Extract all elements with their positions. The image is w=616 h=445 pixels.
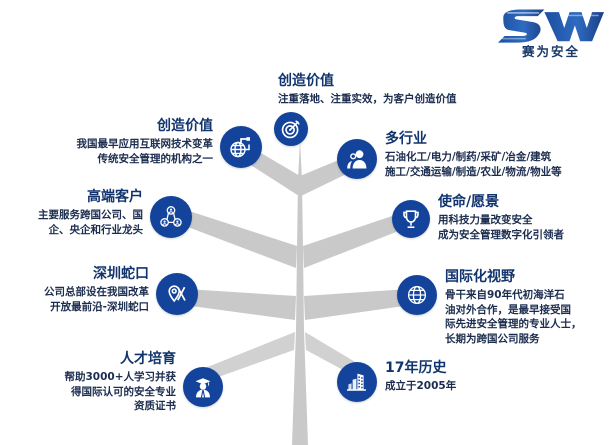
sw-logo-mark	[498, 8, 604, 44]
node-text-block: 深圳蛇口 公司总部设在我国改革 开放最前沿-深圳蛇口	[18, 266, 149, 314]
node-description: 主要服务跨国公司、国 企、央企和行业龙头	[23, 208, 143, 237]
node-description: 骨干来自90年代初海洋石 油对外合作，是最早接受国 际先进安全管理的专业人士， …	[445, 288, 582, 346]
org-chart-icon[interactable]	[150, 196, 192, 238]
node-text-block: 创造价值 注重落地、注重实效，为客户创造价值	[278, 73, 457, 107]
node-description: 注重落地、注重实效，为客户创造价值	[278, 92, 457, 107]
node-description: 用科技力量改变安全 成为安全管理数字化引领者	[438, 213, 564, 242]
node-title: 使命/愿景	[438, 194, 564, 211]
logo-company-name: 赛为安全	[498, 45, 604, 59]
node-title: 人才培育	[24, 351, 176, 368]
node-talent-training[interactable]: 人才培育 帮助3000+人学习并获 得国际认可的安全专业 资质证书	[24, 351, 223, 414]
node-text-block: 多行业 石油化工/电力/制药/采矿/冶金/建筑 施工/交通运输/制造/农业/物流…	[385, 131, 562, 179]
graduate-worker-icon[interactable]	[183, 367, 223, 407]
node-title: 17年历史	[385, 360, 456, 377]
node-text-block: 高端客户 主要服务跨国公司、国 企、央企和行业龙头	[23, 189, 143, 237]
node-global-vision[interactable]: 国际化视野 骨干来自90年代初海洋石 油对外合作，是最早接受国 际先进安全管理的…	[397, 269, 582, 346]
node-title: 国际化视野	[445, 269, 582, 286]
node-description: 石油化工/电力/制药/采矿/冶金/建筑 施工/交通运输/制造/农业/物流/物业等	[385, 150, 562, 179]
node-title: 多行业	[385, 131, 562, 148]
node-shenzhen-shekou[interactable]: 深圳蛇口 公司总部设在我国改革 开放最前沿-深圳蛇口	[18, 266, 198, 315]
node-description: 我国最早应用互联网技术变革 传统安全管理的机构之一	[48, 137, 213, 166]
map-pin-icon[interactable]	[156, 273, 198, 315]
node-description: 公司总部设在我国改革 开放最前沿-深圳蛇口	[18, 285, 149, 314]
node-text-block: 人才培育 帮助3000+人学习并获 得国际认可的安全专业 资质证书	[24, 351, 176, 414]
building-icon[interactable]	[337, 362, 377, 402]
node-text-block: 17年历史 成立于2005年	[385, 360, 456, 394]
node-text-block: 使命/愿景 用科技力量改变安全 成为安全管理数字化引领者	[438, 194, 564, 242]
globe-network-icon[interactable]	[220, 126, 262, 168]
globe-icon[interactable]	[397, 275, 437, 315]
node-premium-clients[interactable]: 高端客户 主要服务跨国公司、国 企、央企和行业龙头	[23, 189, 192, 238]
brand-logo: 赛为安全	[498, 8, 604, 66]
node-title: 高端客户	[23, 189, 143, 206]
node-title: 深圳蛇口	[18, 266, 149, 283]
node-text-block: 国际化视野 骨干来自90年代初海洋石 油对外合作，是最早接受国 际先进安全管理的…	[445, 269, 582, 346]
infographic-canvas: 赛为安全 创造价值 注重落地、注重实效，为客户创造价值 创造价值 我国最早应用互…	[0, 0, 616, 445]
node-title: 创造价值	[48, 118, 213, 135]
people-icon[interactable]	[337, 139, 377, 179]
target-icon[interactable]	[274, 112, 308, 146]
node-text-block: 创造价值 我国最早应用互联网技术变革 传统安全管理的机构之一	[48, 118, 213, 166]
node-description: 成立于2005年	[385, 379, 456, 394]
node-title: 创造价值	[278, 73, 457, 90]
trophy-icon[interactable]	[392, 200, 430, 238]
node-create-value-left[interactable]: 创造价值 我国最早应用互联网技术变革 传统安全管理的机构之一	[48, 118, 262, 168]
node-multi-industry[interactable]: 多行业 石油化工/电力/制药/采矿/冶金/建筑 施工/交通运输/制造/农业/物流…	[337, 131, 562, 179]
node-mission-vision[interactable]: 使命/愿景 用科技力量改变安全 成为安全管理数字化引领者	[392, 194, 564, 242]
node-history-17-years[interactable]: 17年历史 成立于2005年	[337, 360, 456, 402]
node-description: 帮助3000+人学习并获 得国际认可的安全专业 资质证书	[24, 370, 176, 414]
